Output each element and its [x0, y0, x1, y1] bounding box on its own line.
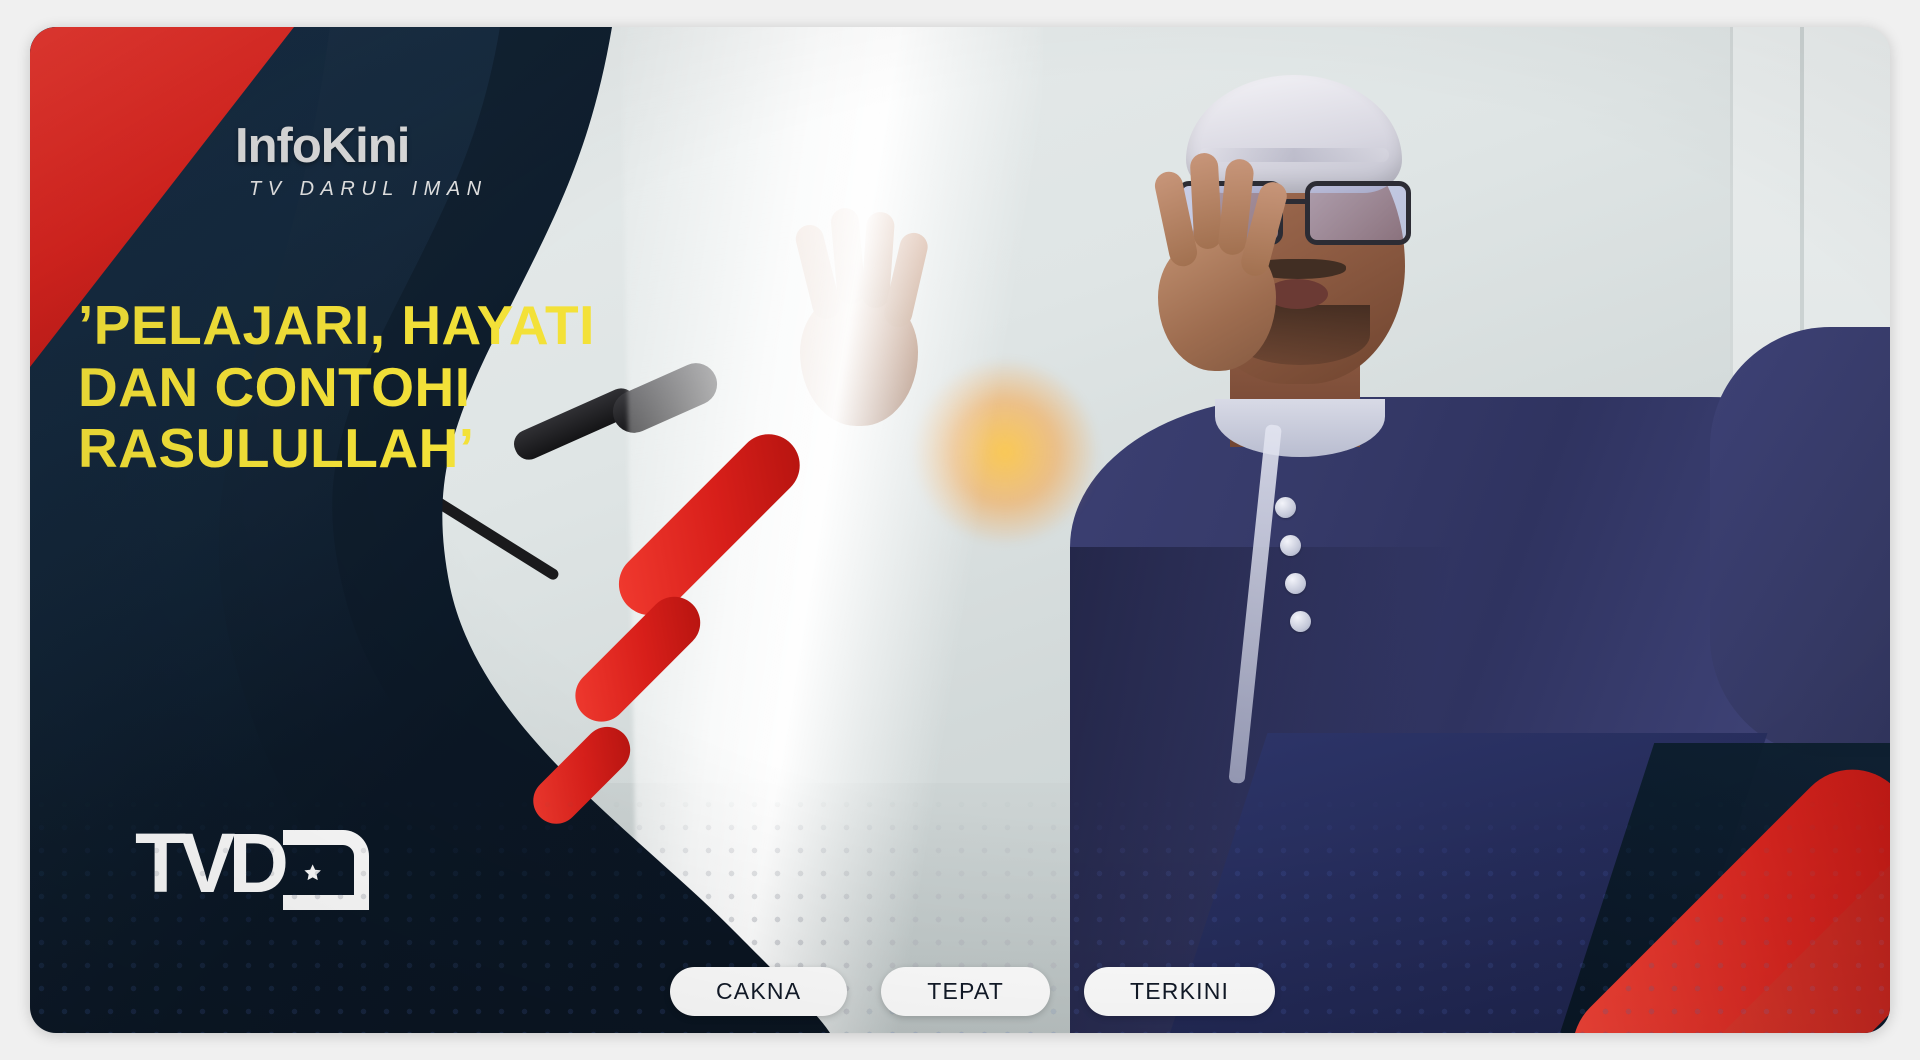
robe-button — [1280, 535, 1301, 556]
page-title: ’PELAJARI, HAYATI DAN CONTOHI RASULULLAH… — [78, 295, 778, 480]
speaker-right-arm — [1710, 327, 1890, 757]
headline-line-2: DAN CONTOHI — [78, 357, 778, 419]
right-lens — [1305, 181, 1411, 245]
channel-logo: InfoKini TV DARUL IMAN — [235, 122, 635, 201]
tagline-pill-tepat[interactable]: TEPAT — [881, 967, 1050, 1016]
headline-line-1: ’PELAJARI, HAYATI — [78, 295, 778, 357]
channel-logo-main: InfoKini — [235, 122, 635, 171]
robe-button — [1290, 611, 1311, 632]
station-logo: TVD — [135, 827, 370, 912]
headline-line-3: RASULULLAH’ — [78, 418, 778, 480]
tagline-pill-terkini[interactable]: TERKINI — [1084, 967, 1275, 1016]
crescent-star-icon — [287, 853, 325, 891]
robe-button — [1275, 497, 1296, 518]
tagline-pill-group: CAKNA TEPAT TERKINI — [670, 967, 1275, 1016]
station-logo-text: TVD — [135, 827, 282, 899]
news-lower-third-card: InfoKini TV DARUL IMAN ’PELAJARI, HAYATI… — [30, 27, 1890, 1033]
robe-button — [1285, 573, 1306, 594]
tagline-pill-cakna[interactable]: CAKNA — [670, 967, 847, 1016]
channel-logo-subtitle: TV DARUL IMAN — [235, 178, 635, 201]
